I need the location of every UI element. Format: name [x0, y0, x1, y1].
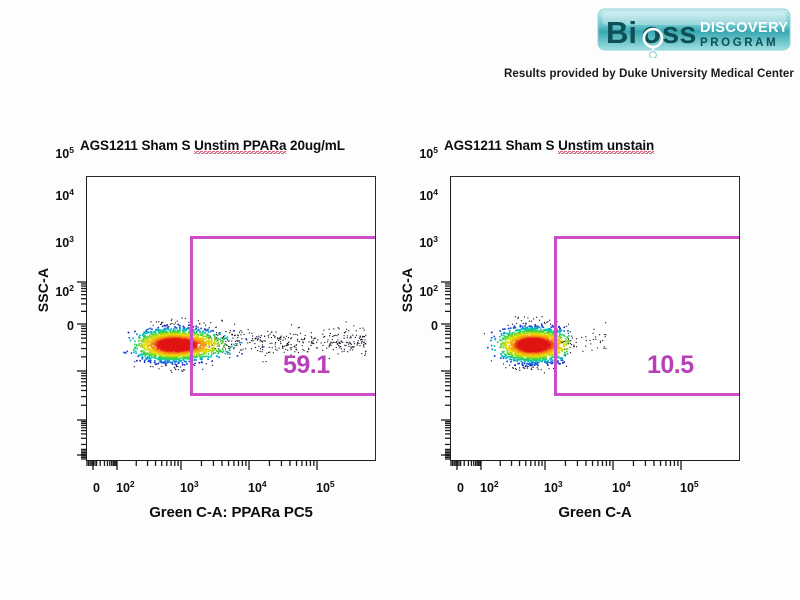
gate-percent-left: 59.1	[283, 353, 330, 378]
plot-panel-left: AGS1211 Sham S Unstim PPARa 20ug/mL SSC-…	[8, 132, 408, 542]
plot-title-left-text: AGS1211 Sham S Unstim PPARa 20ug/mL	[80, 138, 345, 154]
y-tick-label-left-0: 0	[30, 320, 74, 333]
plot-title-right-text: AGS1211 Sham S Unstim unstain	[444, 138, 654, 154]
y-tick-label-left-1e4: 104	[30, 188, 74, 203]
x-tick-label-left-1e2: 102	[116, 480, 135, 495]
y-tick-label-left-1e2: 102	[30, 284, 74, 299]
svg-text:Bi: Bi	[606, 15, 637, 50]
y-tick-label-right-1e2: 102	[394, 284, 438, 299]
event-scatter-left	[87, 177, 376, 461]
x-tick-label-right-1e2: 102	[480, 480, 499, 495]
x-tick-label-right-1e5: 105	[680, 480, 699, 495]
plot-title-left: AGS1211 Sham S Unstim PPARa 20ug/mL	[80, 138, 345, 153]
gate-percent-right: 10.5	[647, 353, 694, 378]
x-axis-title-left: Green C-A: PPARa PC5	[86, 504, 376, 521]
results-credit-text: Results provided by Duke University Medi…	[504, 68, 794, 80]
plot-title-right: AGS1211 Sham S Unstim unstain	[444, 138, 654, 153]
x-tick-label-left-0: 0	[93, 482, 100, 495]
y-tick-label-right-1e4: 104	[394, 188, 438, 203]
y-tick-label-right-0: 0	[394, 320, 438, 333]
plot-panel-right: AGS1211 Sham S Unstim unstain SSC-A 0 10…	[372, 132, 772, 542]
svg-text:PROGRAM: PROGRAM	[700, 37, 778, 49]
event-scatter-right	[451, 177, 740, 461]
y-tick-label-right-1e3: 103	[394, 235, 438, 250]
x-axis-title-right: Green C-A	[450, 504, 740, 521]
y-tick-label-left-1e5: 105	[30, 146, 74, 161]
bioss-discovery-program-logo: Bi o ss DISCOVERY PROGRAM	[596, 6, 792, 58]
x-tick-label-left-1e5: 105	[316, 480, 335, 495]
x-tick-label-left-1e4: 104	[248, 480, 267, 495]
x-tick-label-right-0: 0	[457, 482, 464, 495]
y-tick-label-right-1e5: 105	[394, 146, 438, 161]
x-tick-label-left-1e3: 103	[180, 480, 199, 495]
x-tick-label-right-1e4: 104	[612, 480, 631, 495]
y-tick-label-left-1e3: 103	[30, 235, 74, 250]
svg-text:ss: ss	[662, 15, 696, 50]
x-tick-label-right-1e3: 103	[544, 480, 563, 495]
screenshot-root: Bi o ss DISCOVERY PROGRAM Results provid…	[0, 0, 800, 600]
svg-text:DISCOVERY: DISCOVERY	[700, 20, 788, 36]
plot-area-left[interactable]: 59.1	[86, 176, 376, 461]
branding-header: Bi o ss DISCOVERY PROGRAM	[596, 6, 792, 58]
plot-area-right[interactable]: 10.5	[450, 176, 740, 461]
